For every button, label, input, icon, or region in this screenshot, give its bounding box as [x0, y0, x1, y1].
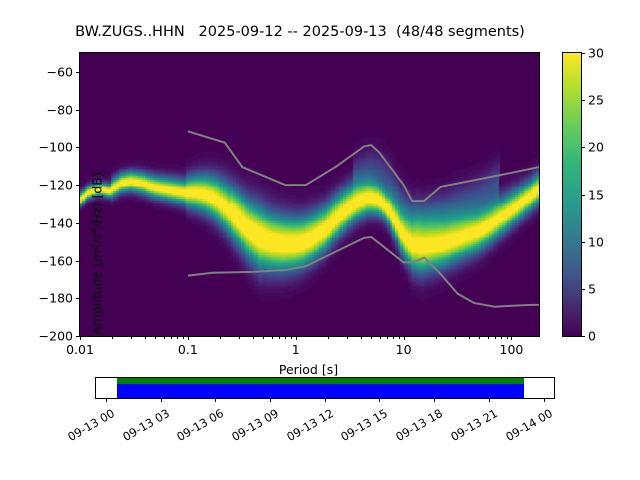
y-tick	[76, 336, 80, 337]
x-tick	[112, 336, 113, 339]
timeline-tick-label: 09-13 00	[65, 406, 117, 444]
x-tick	[501, 336, 502, 339]
y-tick	[76, 261, 80, 262]
x-tick	[177, 336, 178, 339]
y-axis-label: Amplitude [m2/s4/Hz] [dB]	[89, 129, 104, 379]
timeline-tick-label: 09-13 15	[339, 406, 391, 444]
colorbar-tick-label: 30	[588, 46, 604, 61]
x-tick	[188, 336, 189, 340]
ppsd-plot-area[interactable]: 0.010.1110100 −60−80−100−120−140−160−180…	[79, 52, 540, 337]
x-tick	[455, 336, 456, 339]
y-tick	[76, 110, 80, 111]
y-axis-label-math-a: m	[90, 250, 105, 262]
colorbar-tick-label: 15	[588, 187, 604, 202]
timeline-tick-label: 09-13 18	[393, 406, 445, 444]
timeline-tick	[106, 398, 107, 402]
timeline-tick	[544, 398, 545, 402]
timeline-tick-label: 09-13 06	[175, 406, 227, 444]
timeline-tick-label: 09-13 12	[284, 406, 336, 444]
colorbar-tick-label: 25	[588, 93, 604, 108]
y-tick-label: −200	[39, 329, 73, 344]
y-tick-label: −100	[39, 140, 73, 155]
x-tick	[507, 336, 508, 339]
timeline-tick-label: 09-13 21	[448, 406, 500, 444]
x-tick	[380, 336, 381, 339]
noise-model-nlnm	[188, 237, 539, 307]
colorbar-tick	[581, 289, 585, 290]
x-tick	[164, 336, 165, 339]
x-tick	[145, 336, 146, 339]
y-axis-label-suffix: ] [dB]	[90, 172, 105, 207]
y-tick-label: −80	[47, 102, 73, 117]
noise-model-lines	[80, 53, 539, 336]
timeline-tick	[161, 398, 162, 402]
colorbar-tick	[581, 242, 585, 243]
y-tick	[76, 223, 80, 224]
x-tick	[272, 336, 273, 339]
coverage-bar-blue	[117, 384, 525, 398]
x-tick	[511, 336, 512, 340]
y-tick-label: −120	[39, 178, 73, 193]
x-tick	[371, 336, 372, 339]
timeline-tick	[434, 398, 435, 402]
x-tick	[328, 336, 329, 339]
colorbar-tick-label: 10	[588, 234, 604, 249]
x-tick	[347, 336, 348, 339]
timeline-tick	[379, 398, 380, 402]
timeline-tick	[489, 398, 490, 402]
x-tick	[393, 336, 394, 339]
colorbar-tick	[581, 336, 585, 337]
x-tick	[263, 336, 264, 339]
colorbar-tick-label: 5	[588, 281, 596, 296]
x-tick	[399, 336, 400, 339]
x-tick	[296, 336, 297, 340]
timeline-tick-label: 09-13 09	[229, 406, 281, 444]
y-tick-label: −60	[47, 64, 73, 79]
ppsd-figure: BW.ZUGS..HHN 2025-09-12 -- 2025-09-13 (4…	[0, 0, 640, 480]
timeline-tick-label: 09-13 03	[120, 406, 172, 444]
x-tick	[479, 336, 480, 339]
colorbar-tick-label: 20	[588, 140, 604, 155]
y-tick-label: −140	[39, 215, 73, 230]
x-tick	[239, 336, 240, 339]
y-axis-label-math-b: /s	[90, 233, 105, 244]
y-tick	[76, 72, 80, 73]
x-axis-label: Period [s]	[79, 362, 538, 377]
y-axis-label-sup-b: 4	[89, 228, 99, 234]
x-tick	[183, 336, 184, 339]
y-tick	[76, 298, 80, 299]
x-tick	[488, 336, 489, 339]
x-tick	[285, 336, 286, 339]
figure-title: BW.ZUGS..HHN 2025-09-12 -- 2025-09-13 (4…	[0, 24, 600, 40]
plot-clip	[80, 53, 539, 336]
x-tick	[436, 336, 437, 339]
colorbar[interactable]: 051015202530	[562, 52, 582, 337]
x-tick	[469, 336, 470, 339]
timeline-tick-label: 09-14 00	[503, 406, 555, 444]
y-tick	[76, 147, 80, 148]
x-tick	[279, 336, 280, 339]
x-tick-label: 10	[396, 342, 412, 357]
colorbar-tick	[581, 100, 585, 101]
x-tick-label: 1	[292, 342, 300, 357]
x-tick	[253, 336, 254, 339]
y-axis-label-math-c: /Hz	[90, 207, 105, 227]
x-tick	[495, 336, 496, 339]
colorbar-tick	[581, 53, 585, 54]
x-tick	[131, 336, 132, 339]
noise-model-nhnm	[188, 131, 539, 201]
x-tick	[361, 336, 362, 339]
colorbar-tick	[581, 195, 585, 196]
x-tick	[155, 336, 156, 339]
colorbar-tick-label: 0	[588, 329, 596, 344]
timeline-tick	[270, 398, 271, 402]
coverage-timeline[interactable]: 09-13 0009-13 0309-13 0609-13 0909-13 12…	[95, 377, 555, 399]
x-tick	[387, 336, 388, 339]
y-tick-label: −180	[39, 291, 73, 306]
x-tick	[404, 336, 405, 340]
y-tick	[76, 185, 80, 186]
y-tick-label: −160	[39, 253, 73, 268]
y-axis-label-sup-a: 2	[89, 244, 99, 250]
timeline-tick	[325, 398, 326, 402]
timeline-tick	[215, 398, 216, 402]
x-tick	[220, 336, 221, 339]
x-tick	[291, 336, 292, 339]
x-tick-label: 100	[500, 342, 524, 357]
x-tick	[80, 336, 81, 340]
x-tick	[171, 336, 172, 339]
x-tick-label: 0.1	[178, 342, 198, 357]
coverage-bar	[117, 378, 525, 398]
colorbar-tick	[581, 147, 585, 148]
y-axis-label-prefix: Amplitude [	[90, 262, 105, 335]
